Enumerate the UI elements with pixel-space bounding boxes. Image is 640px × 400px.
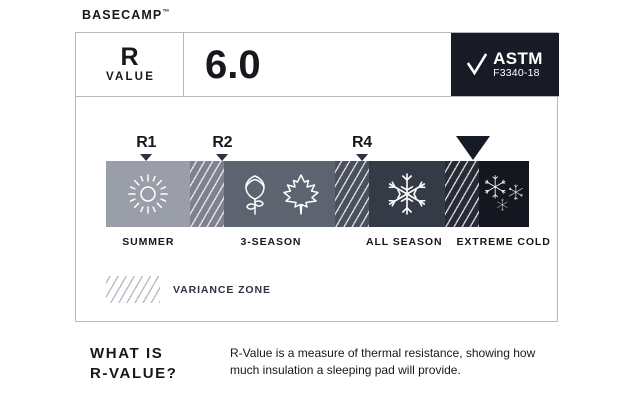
current-value-pointer-icon: [456, 136, 490, 160]
sun-icon: [127, 173, 169, 215]
triangle-down-icon: [356, 154, 368, 161]
r-value-label-cell: R VALUE: [76, 33, 184, 96]
segment-three-season: [224, 161, 335, 227]
maple-leaf-icon: [282, 172, 320, 216]
footer-body: R-Value is a measure of thermal resistan…: [230, 344, 560, 385]
snowflake-icon: [384, 171, 430, 217]
r-letter: R: [120, 46, 138, 70]
segment-extreme-cold: [479, 161, 529, 227]
segment-variance-1: [190, 161, 224, 227]
scale-marker-label: R4: [352, 135, 372, 151]
rvalue-card: R VALUE 6.0 ASTM F3340-18 R1 R2: [75, 32, 558, 322]
temperature-scale: R1 R2 R4: [106, 119, 529, 260]
category-label-three-season: 3-SEASON: [241, 236, 302, 248]
trademark-symbol: ™: [162, 9, 169, 16]
segment-variance-2: [335, 161, 369, 227]
astm-text-group: ASTM F3340-18: [493, 50, 543, 80]
astm-spec: F3340-18: [493, 68, 543, 79]
astm-certification-badge: ASTM F3340-18: [451, 33, 559, 96]
brand-wordmark: BASECAMP™: [82, 8, 169, 22]
category-label-extreme-cold: EXTREME COLD: [456, 236, 550, 248]
value-word: VALUE: [104, 71, 155, 83]
brand-name: BASECAMP: [82, 8, 162, 22]
category-label-all-season: ALL SEASON: [366, 236, 442, 248]
r-value-number-cell: 6.0: [184, 33, 451, 96]
footer-explainer: WHAT IS R-VALUE? R-Value is a measure of…: [90, 344, 560, 385]
rvalue-gradient-bar: [106, 161, 529, 227]
scale-marker-label: R1: [136, 135, 156, 151]
value-bar: R VALUE 6.0 ASTM F3340-18: [76, 33, 559, 97]
category-label-summer: SUMMER: [122, 236, 174, 248]
segment-all-season: [369, 161, 445, 227]
check-icon: [467, 52, 487, 78]
scale-marker-r4: R4: [352, 135, 372, 161]
category-labels: SUMMER 3-SEASON ALL SEASON EXTREME COLD: [106, 236, 529, 260]
variance-zone-label: VARIANCE ZONE: [173, 284, 271, 296]
scale-marker-r2: R2: [212, 135, 232, 161]
triangle-down-icon: [140, 154, 152, 161]
triangle-down-icon: [216, 154, 228, 161]
r-value-number: 6.0: [205, 45, 261, 85]
scale-markers: R1 R2 R4: [106, 119, 529, 161]
snowflake-triple-icon: [479, 169, 529, 219]
astm-standard: ASTM: [493, 50, 543, 68]
tulip-icon: [238, 172, 272, 216]
footer-title: WHAT IS R-VALUE?: [90, 344, 208, 385]
variance-zone-legend: VARIANCE ZONE: [106, 276, 271, 303]
segment-variance-3: [445, 161, 479, 227]
scale-marker-r1: R1: [136, 135, 156, 161]
scale-marker-label: R2: [212, 135, 232, 151]
hatch-swatch-icon: [106, 276, 160, 303]
segment-summer: [106, 161, 190, 227]
